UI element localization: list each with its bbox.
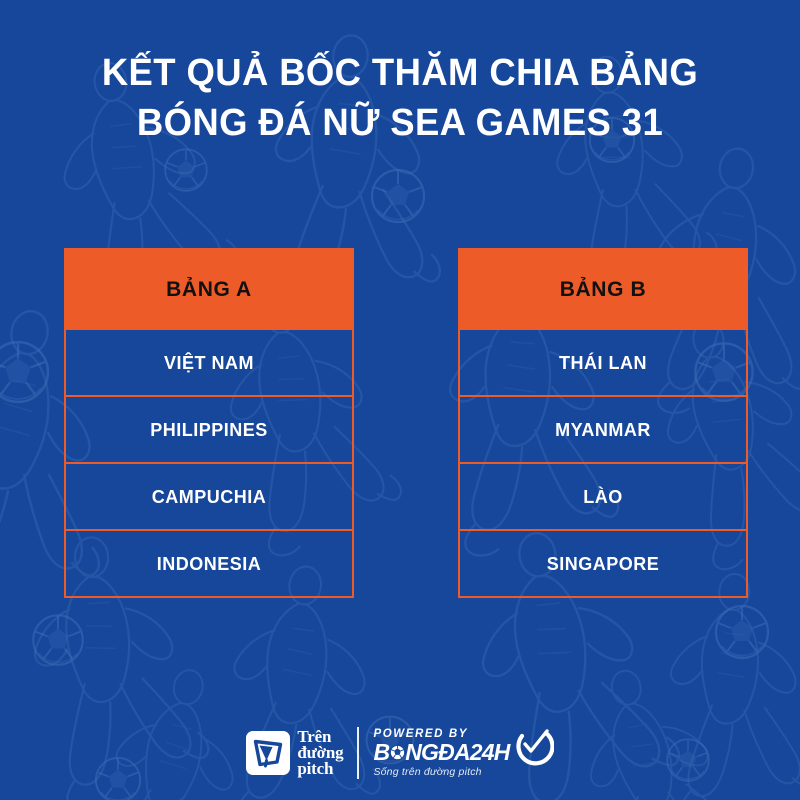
page-title: KẾT QUẢ BỐC THĂM CHIA BẢNG BÓNG ĐÁ NỮ SE…: [0, 48, 800, 148]
team-name: PHILIPPINES: [150, 421, 268, 439]
circle-check-swoosh-icon: [510, 724, 554, 768]
bongda24h-tagline: Sống trên đường pitch: [373, 766, 509, 778]
group-b-header: BẢNG B: [460, 250, 746, 328]
title-line-1: KẾT QUẢ BỐC THĂM CHIA BẢNG: [16, 48, 784, 98]
brand-bongda24h: POWERED BY B NGĐA24H Sống trên đường pit…: [373, 728, 553, 778]
bongda24h-text-part-2: NGĐA24H: [405, 741, 509, 764]
brand-word-line-3: pitch: [297, 761, 343, 777]
footer-divider: [357, 727, 359, 779]
table-row: LÀO: [460, 462, 746, 529]
pitch-flag-icon: [246, 731, 290, 775]
brand-wordmark: Trên đường pitch: [297, 729, 343, 778]
team-name: VIỆT NAM: [164, 354, 254, 372]
table-row: THÁI LAN: [460, 328, 746, 395]
team-name: LÀO: [583, 488, 623, 506]
table-row: PHILIPPINES: [66, 395, 352, 462]
title-line-2: BÓNG ĐÁ NỮ SEA GAMES 31: [16, 98, 784, 148]
team-name: INDONESIA: [157, 555, 262, 573]
brand-tren-duong-pitch: Trên đường pitch: [246, 729, 343, 778]
table-row: SINGAPORE: [460, 529, 746, 596]
team-name: SINGAPORE: [547, 555, 660, 573]
group-a-header: BẢNG A: [66, 250, 352, 328]
group-a-header-label: BẢNG A: [166, 279, 252, 300]
bongda24h-text-part-1: B: [373, 741, 389, 764]
ball-icon: [389, 744, 406, 761]
group-table-a: BẢNG A VIỆT NAM PHILIPPINES CAMPUCHIA IN…: [64, 248, 354, 598]
footer-branding: Trên đường pitch POWERED BY B NGĐA24H Số…: [0, 716, 800, 790]
team-name: MYANMAR: [555, 421, 651, 439]
table-row: VIỆT NAM: [66, 328, 352, 395]
group-table-b: BẢNG B THÁI LAN MYANMAR LÀO SINGAPORE: [458, 248, 748, 598]
team-name: CAMPUCHIA: [152, 488, 267, 506]
group-b-header-label: BẢNG B: [560, 279, 646, 300]
table-row: CAMPUCHIA: [66, 462, 352, 529]
table-row: MYANMAR: [460, 395, 746, 462]
table-row: INDONESIA: [66, 529, 352, 596]
team-name: THÁI LAN: [559, 354, 647, 372]
bongda24h-wordmark: B NGĐA24H: [373, 741, 509, 764]
poster-canvas: KẾT QUẢ BỐC THĂM CHIA BẢNG BÓNG ĐÁ NỮ SE…: [0, 0, 800, 800]
